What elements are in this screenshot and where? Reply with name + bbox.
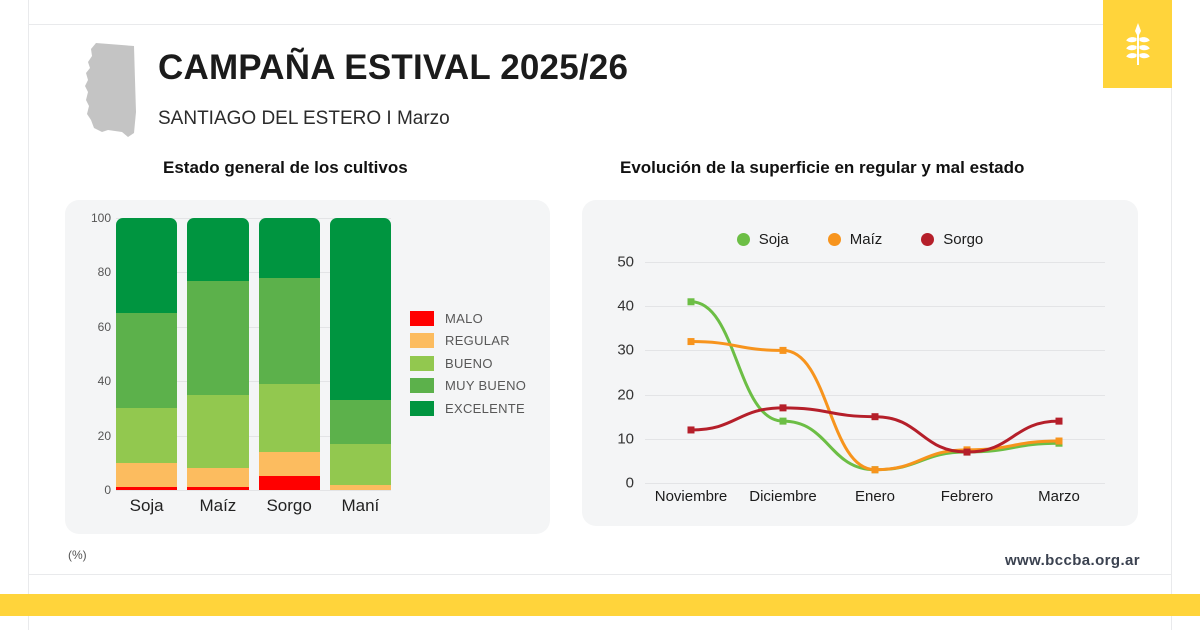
legend-label: REGULAR: [445, 333, 510, 348]
legend-dot: [737, 233, 750, 246]
legend-swatch: [410, 401, 434, 416]
line-chart-y-ticks: 01020304050: [594, 262, 634, 483]
bar-segment-bueno: [259, 384, 320, 452]
legend-label: Soja: [759, 231, 789, 248]
bar-column[interactable]: [116, 218, 177, 490]
line-chart-plot-area: [645, 262, 1105, 483]
line-data-point[interactable]: [688, 426, 695, 433]
bar-segment-regular: [259, 452, 320, 476]
bar-chart-plot-area: [116, 218, 391, 490]
legend-label: Maíz: [850, 231, 883, 248]
bar-chart-x-label: Sorgo: [259, 496, 320, 516]
line-chart-legend: SojaMaízSorgo: [582, 231, 1138, 248]
bar-segment-excelente: [116, 218, 177, 313]
legend-label: EXCELENTE: [445, 401, 525, 416]
line-chart-y-tick: 30: [594, 342, 634, 359]
legend-item-excelente[interactable]: EXCELENTE: [410, 397, 526, 420]
legend-item-regular[interactable]: REGULAR: [410, 330, 526, 353]
line-chart-x-label: Diciembre: [737, 488, 829, 505]
bar-segment-excelente: [330, 218, 391, 400]
legend-swatch: [410, 356, 434, 371]
legend-item-muy-bueno[interactable]: MUY BUENO: [410, 375, 526, 398]
legend-dot: [921, 233, 934, 246]
legend-label: Sorgo: [943, 231, 983, 248]
line-chart-y-tick: 40: [594, 298, 634, 315]
line-series-soja: [691, 302, 1059, 470]
line-chart-x-label: Febrero: [921, 488, 1013, 505]
stacked-bar[interactable]: [116, 218, 177, 490]
bar-column[interactable]: [259, 218, 320, 490]
legend-label: BUENO: [445, 356, 493, 371]
bar-segment-malo: [187, 487, 248, 490]
bar-column[interactable]: [187, 218, 248, 490]
bar-segment-regular: [187, 468, 248, 487]
section-title-bar-chart: Estado general de los cultivos: [163, 158, 408, 178]
bar-group: [116, 218, 391, 490]
bar-segment-muy-bueno: [259, 278, 320, 384]
line-data-point[interactable]: [780, 404, 787, 411]
legend-label: MALO: [445, 311, 483, 326]
bar-segment-muy-bueno: [116, 313, 177, 408]
line-chart-y-tick: 50: [594, 254, 634, 271]
bar-segment-regular: [330, 485, 391, 490]
brand-badge: [1103, 0, 1172, 88]
line-data-point[interactable]: [872, 466, 879, 473]
bar-segment-malo: [116, 487, 177, 490]
line-data-point[interactable]: [964, 449, 971, 456]
line-chart-x-label: Enero: [829, 488, 921, 505]
legend-swatch: [410, 333, 434, 348]
bar-chart-panel: (%) 020406080100 SojaMaízSorgoManí MALOR…: [65, 200, 550, 534]
bar-segment-excelente: [187, 218, 248, 281]
wheat-stalk-icon: [1123, 21, 1153, 67]
santiago-del-estero-map-icon: [78, 40, 142, 140]
line-chart-y-tick: 0: [594, 475, 634, 492]
line-data-point[interactable]: [688, 338, 695, 345]
line-chart-gridline: [645, 483, 1105, 484]
legend-item-malo[interactable]: MALO: [410, 307, 526, 330]
bar-segment-excelente: [259, 218, 320, 278]
legend-swatch: [410, 311, 434, 326]
frame-bottom-divider: [28, 574, 1172, 575]
website-url[interactable]: www.bccba.org.ar: [1005, 552, 1140, 569]
line-legend-item-soja[interactable]: Soja: [737, 231, 789, 248]
stacked-bar-chart: (%) 020406080100 SojaMaízSorgoManí MALOR…: [65, 200, 550, 534]
bar-chart-y-tick: 80: [77, 265, 111, 279]
line-chart-y-tick: 10: [594, 430, 634, 447]
line-chart-panel: SojaMaízSorgo 01020304050 NoviembreDicie…: [582, 200, 1138, 526]
line-data-point[interactable]: [1056, 418, 1063, 425]
bar-chart-x-labels: SojaMaízSorgoManí: [116, 496, 391, 516]
line-chart-x-label: Marzo: [1013, 488, 1105, 505]
bar-chart-y-tick: 60: [77, 320, 111, 334]
stacked-bar[interactable]: [259, 218, 320, 490]
bar-chart-y-axis-label: (%): [68, 548, 87, 562]
bar-segment-bueno: [330, 444, 391, 485]
line-legend-item-sorgo[interactable]: Sorgo: [921, 231, 983, 248]
bar-chart-y-tick: 40: [77, 374, 111, 388]
bar-chart-y-tick: 0: [77, 483, 111, 497]
line-chart-x-labels: NoviembreDiciembreEneroFebreroMarzo: [645, 488, 1105, 505]
bar-column[interactable]: [330, 218, 391, 490]
bar-segment-muy-bueno: [330, 400, 391, 444]
legend-dot: [828, 233, 841, 246]
bar-segment-muy-bueno: [187, 281, 248, 395]
line-data-point[interactable]: [780, 418, 787, 425]
page-subtitle: SANTIAGO DEL ESTERO I Marzo: [158, 108, 450, 130]
line-data-point[interactable]: [872, 413, 879, 420]
bar-chart-x-label: Maní: [330, 496, 391, 516]
bottom-accent-bar: [0, 594, 1200, 616]
legend-swatch: [410, 378, 434, 393]
line-chart: SojaMaízSorgo 01020304050 NoviembreDicie…: [582, 200, 1138, 526]
line-data-point[interactable]: [688, 298, 695, 305]
line-data-point[interactable]: [1056, 438, 1063, 445]
bar-chart-legend: MALOREGULARBUENOMUY BUENOEXCELENTE: [410, 307, 526, 420]
stacked-bar[interactable]: [187, 218, 248, 490]
stacked-bar[interactable]: [330, 218, 391, 490]
line-chart-series-svg: [645, 262, 1105, 483]
bar-segment-malo: [259, 476, 320, 490]
legend-item-bueno[interactable]: BUENO: [410, 352, 526, 375]
line-data-point[interactable]: [780, 347, 787, 354]
bar-chart-y-tick: 20: [77, 429, 111, 443]
bar-chart-y-ticks: 020406080100: [77, 200, 111, 534]
bar-segment-bueno: [116, 408, 177, 462]
bar-segment-regular: [116, 463, 177, 487]
line-chart-x-label: Noviembre: [645, 488, 737, 505]
line-chart-y-tick: 20: [594, 386, 634, 403]
section-title-line-chart: Evolución de la superficie en regular y …: [620, 158, 1024, 178]
page-title: CAMPAÑA ESTIVAL 2025/26: [158, 48, 628, 88]
legend-label: MUY BUENO: [445, 378, 526, 393]
line-legend-item-maíz[interactable]: Maíz: [828, 231, 883, 248]
frame-top-divider: [28, 24, 1172, 25]
bar-chart-y-tick: 100: [77, 211, 111, 225]
bar-chart-x-label: Soja: [116, 496, 177, 516]
bar-chart-gridline: [116, 490, 391, 491]
infographic-page: CAMPAÑA ESTIVAL 2025/26 SANTIAGO DEL EST…: [0, 0, 1200, 630]
bar-chart-x-label: Maíz: [187, 496, 248, 516]
bar-segment-bueno: [187, 395, 248, 468]
